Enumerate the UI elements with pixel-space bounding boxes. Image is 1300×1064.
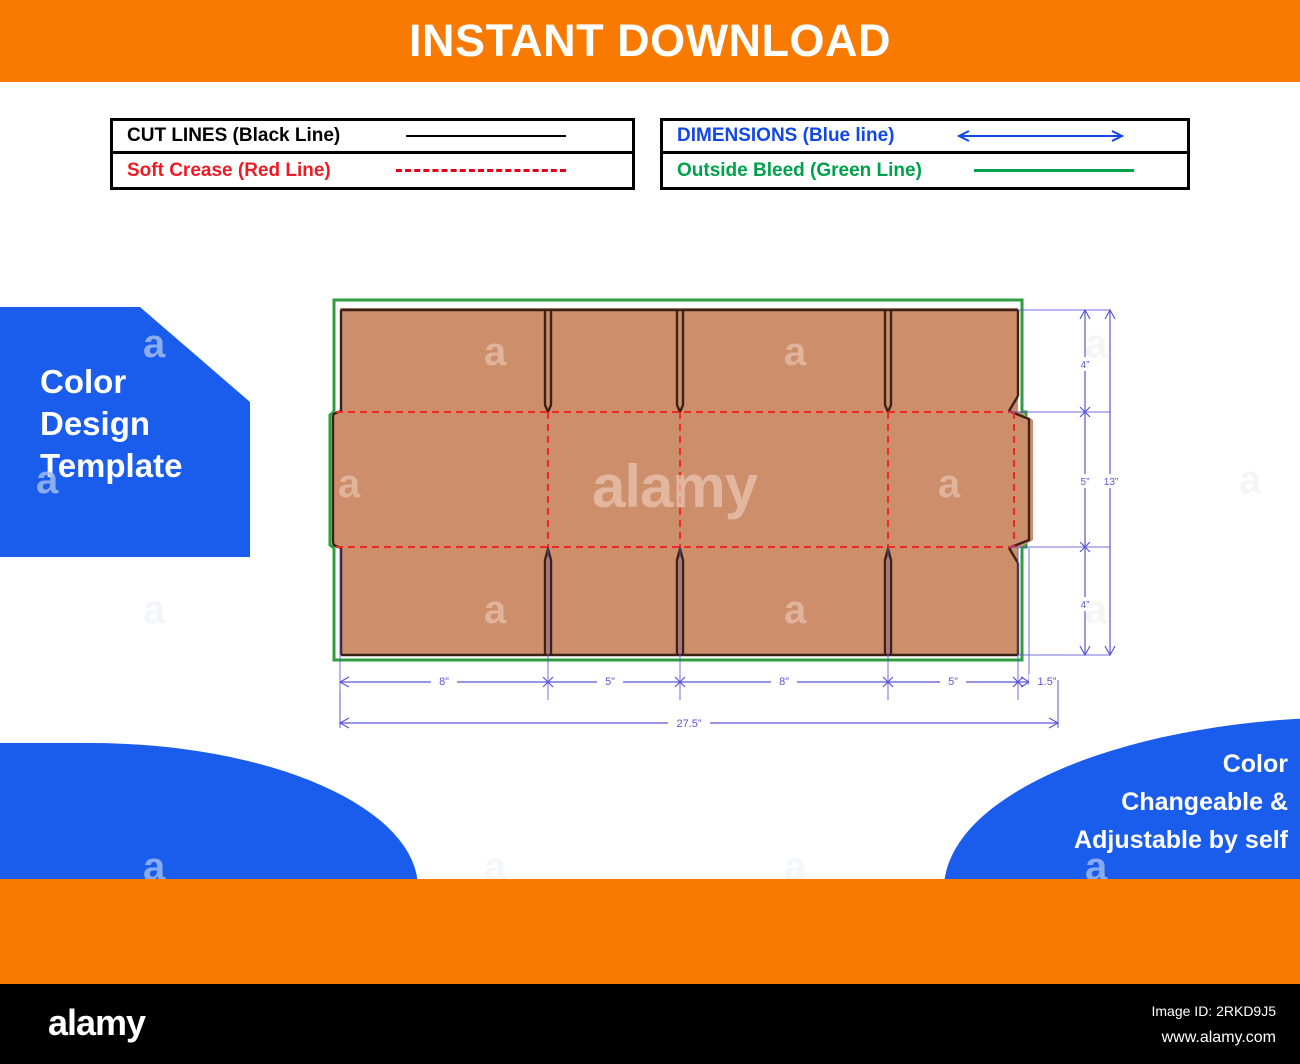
watermark-mark: a (484, 330, 506, 375)
legend-row-cut-lines: CUT LINES (Black Line) (113, 121, 632, 154)
watermark-mark: a (784, 330, 806, 375)
dim-h-2: 5” (605, 676, 615, 688)
dim-h-5: 1.5” (1038, 676, 1057, 688)
badge-br-line-1: Color (1020, 745, 1288, 783)
alamy-url-label: www.alamy.com (1162, 1029, 1276, 1047)
badge-line-1: Color (40, 361, 270, 403)
crease-lines (336, 412, 1014, 547)
legend-label-outside-bleed: Outside Bleed (Green Line) (677, 160, 922, 182)
legend-box-right: DIMENSIONS (Blue line) Outside Bleed (Gr… (660, 118, 1190, 190)
watermark-mark: a (484, 588, 506, 633)
horizontal-segment-dimensions: 8” 5” 8” 5” 1.5” (340, 674, 1065, 689)
legend-row-outside-bleed: Outside Bleed (Green Line) (663, 154, 1187, 187)
legend-row-dimensions: DIMENSIONS (Blue line) (663, 121, 1187, 154)
legend-sample-outside-bleed (922, 169, 1187, 172)
watermark-mark: a (1239, 458, 1261, 503)
solid-black-line-icon (406, 135, 566, 137)
dim-h-total: 27.5” (676, 718, 701, 730)
legend-sample-dimensions (894, 129, 1187, 143)
dim-h-3: 8” (779, 676, 789, 688)
outside-bleed-outline (330, 300, 1026, 660)
watermark-mark: a (1085, 588, 1107, 633)
legend-sample-soft-crease (331, 169, 632, 172)
badge-br-line-3: Adjustable by self (1020, 821, 1288, 859)
page-title: INSTANT DOWNLOAD (0, 0, 1300, 82)
bottom-orange-band (0, 879, 1300, 984)
watermark-mark: a (338, 462, 360, 507)
watermark-mark: a (784, 588, 806, 633)
screenshot-root: INSTANT DOWNLOAD CUT LINES (Black Line) … (0, 0, 1300, 1064)
watermark-mark: a (1085, 322, 1107, 367)
dimension-annotations: 8” 5” 8” 5” 1.5” (340, 310, 1125, 730)
dim-h-1: 8” (439, 676, 449, 688)
legend-label-dimensions: DIMENSIONS (Blue line) (677, 125, 894, 147)
alamy-logo: alamy (48, 1002, 145, 1044)
legend-label-cut-lines: CUT LINES (Black Line) (127, 125, 340, 147)
double-arrow-blue-icon (953, 129, 1128, 143)
legend-sample-cut-lines (340, 135, 632, 137)
bottom-left-blue-shape (0, 743, 418, 888)
dim-v-1: 4” (1081, 360, 1090, 371)
dashed-red-line-icon (396, 169, 566, 172)
dim-h-4: 5” (948, 676, 958, 688)
dim-v-total: 13” (1104, 477, 1118, 488)
horizontal-total-dimension: 27.5” (340, 680, 1058, 730)
watermark-center-mark: alamy (592, 452, 757, 521)
badge-line-2: Design (40, 403, 270, 445)
legend-box-left: CUT LINES (Black Line) Soft Crease (Red … (110, 118, 635, 190)
badge-br-line-2: Changeable & (1020, 783, 1288, 821)
dim-v-3: 4” (1081, 600, 1090, 611)
color-changeable-text: Color Changeable & Adjustable by self (1020, 745, 1288, 859)
watermark-mark: a (143, 588, 165, 633)
legend-row-soft-crease: Soft Crease (Red Line) (113, 154, 632, 187)
dim-v-2: 5” (1081, 477, 1090, 488)
color-design-template-text: Color Design Template (40, 361, 270, 487)
cut-lines (333, 310, 1029, 655)
solid-green-line-icon (974, 169, 1134, 172)
dimension-extension-lines (340, 310, 1110, 700)
board-fill (333, 308, 1033, 655)
legend-label-soft-crease: Soft Crease (Red Line) (127, 160, 331, 182)
image-id-label: Image ID: 2RKD9J5 (1152, 1003, 1277, 1019)
alamy-footer-bar (0, 984, 1300, 1064)
watermark-mark: a (938, 462, 960, 507)
vertical-segment-dimensions: 4” 5” 4” (1074, 310, 1096, 655)
vertical-total-dimension: 13” (1097, 310, 1125, 655)
badge-line-3: Template (40, 445, 270, 487)
